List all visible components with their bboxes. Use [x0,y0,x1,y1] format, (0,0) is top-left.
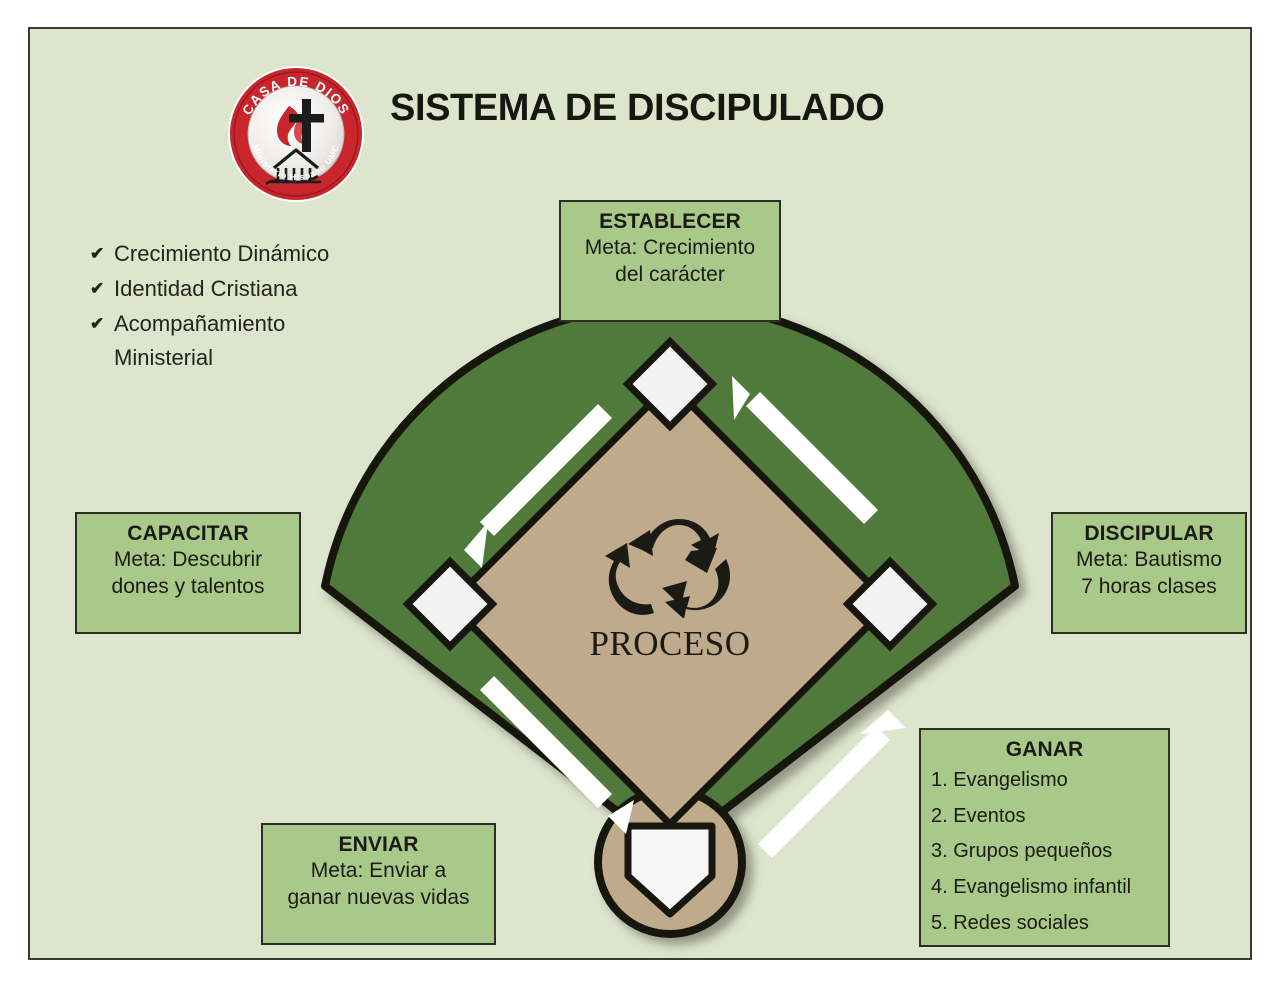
page-title: SISTEMA DE DISCIPULADO [390,87,990,130]
box-discipular-line-2: 7 horas clases [1063,574,1235,601]
box-capacitar-line-1: Meta: Descubrir [87,547,289,574]
box-capacitar[interactable]: CAPACITAR Meta: Descubrir dones y talent… [75,512,301,634]
box-enviar-title: ENVIAR [273,832,484,858]
box-enviar-line-1: Meta: Enviar a [273,858,484,885]
check-icon: ✔ [90,307,114,340]
box-capacitar-line-2: dones y talentos [87,574,289,601]
box-enviar[interactable]: ENVIAR Meta: Enviar a ganar nuevas vidas [261,823,496,945]
box-establecer-title: ESTABLECER [571,209,769,235]
box-discipular-title: DISCIPULAR [1063,521,1235,547]
content-panel: CASA DE DIOS Ministerio Hispano UMC SIST… [28,27,1252,960]
diagram-canvas: CASA DE DIOS Ministerio Hispano UMC SIST… [0,0,1280,989]
check-icon: ✔ [90,237,114,270]
box-ganar-item-4: 4. Evangelismo infantil [931,870,1158,906]
casa-de-dios-logo: CASA DE DIOS Ministerio Hispano UMC [226,64,366,204]
check-icon: ✔ [90,272,114,305]
box-ganar-item-5: 5. Redes sociales [931,906,1158,942]
box-discipular[interactable]: DISCIPULAR Meta: Bautismo 7 horas clases [1051,512,1247,634]
box-establecer-line-1: Meta: Crecimiento [571,235,769,262]
box-discipular-line-1: Meta: Bautismo [1063,547,1235,574]
box-enviar-line-2: ganar nuevas vidas [273,885,484,912]
box-ganar-item-1: 1. Evangelismo [931,763,1158,799]
box-ganar-item-3: 3. Grupos pequeños [931,834,1158,870]
box-ganar-title: GANAR [931,737,1158,763]
box-ganar-item-2: 2. Eventos [931,799,1158,835]
box-establecer[interactable]: ESTABLECER Meta: Crecimiento del carácte… [559,200,781,322]
box-ganar[interactable]: GANAR 1. Evangelismo 2. Eventos 3. Grupo… [919,728,1170,947]
box-capacitar-title: CAPACITAR [87,521,289,547]
box-establecer-line-2: del carácter [571,262,769,289]
